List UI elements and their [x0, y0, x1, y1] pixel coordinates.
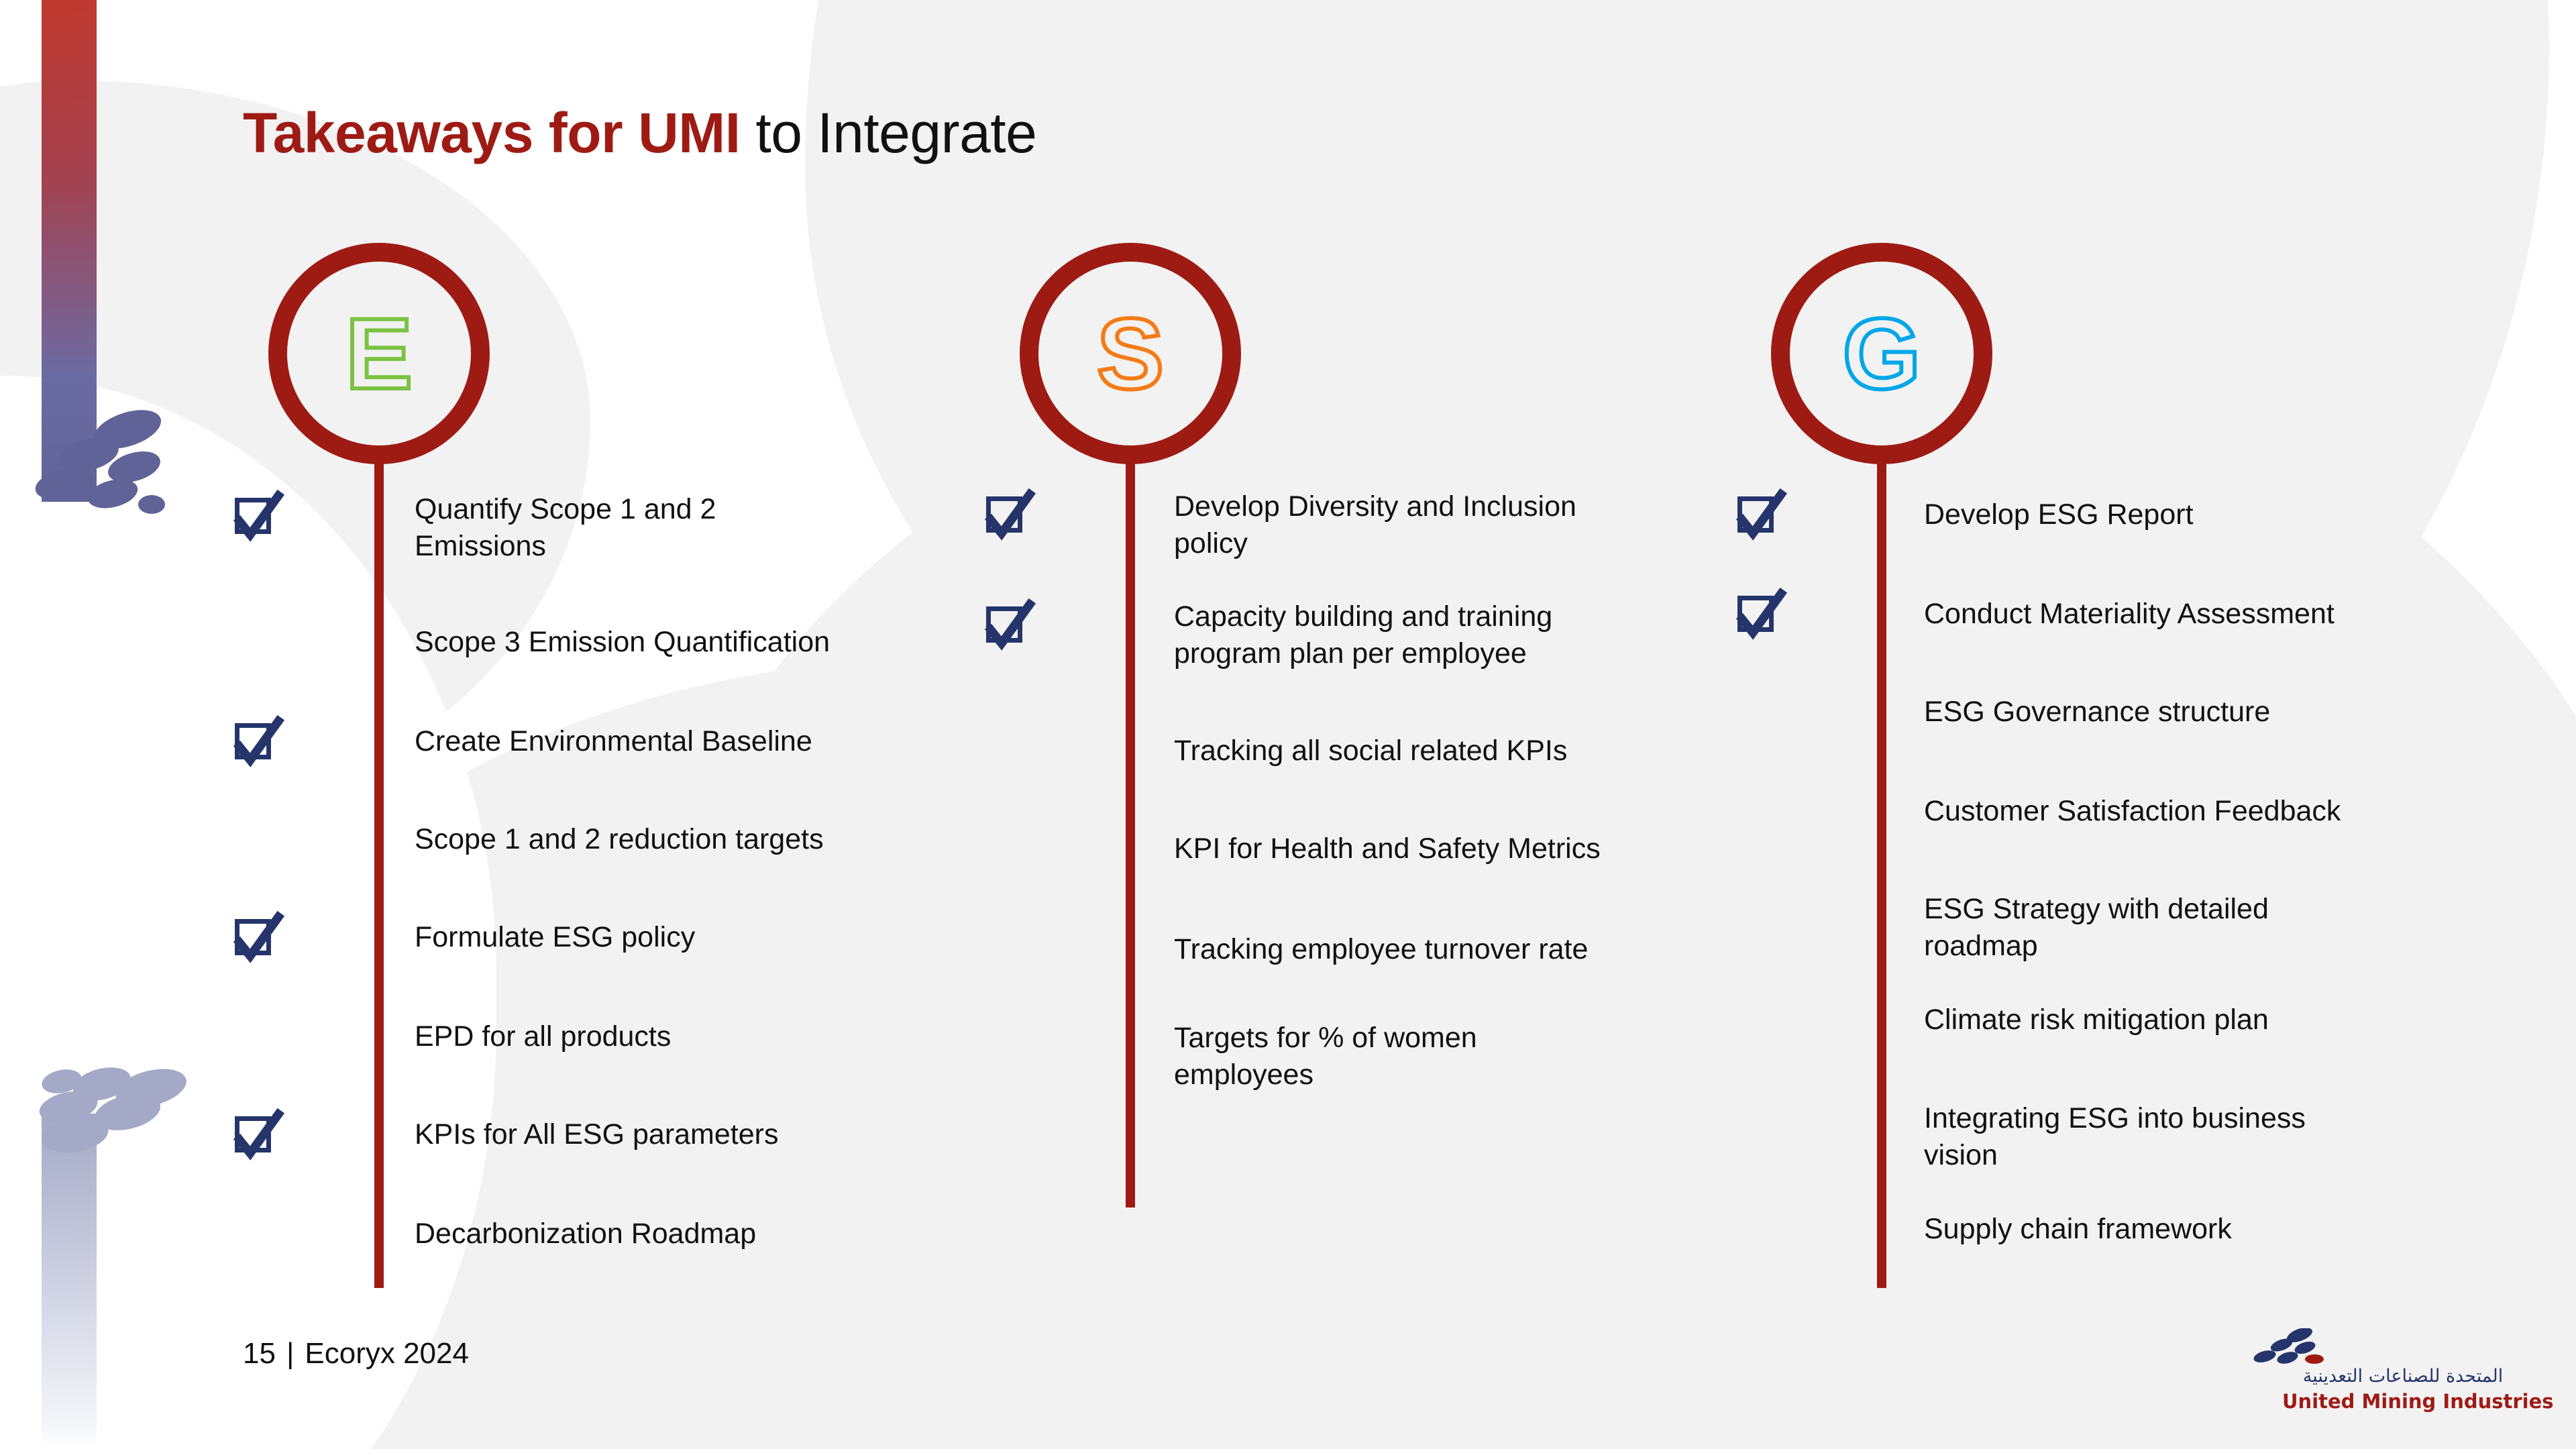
company-logo: المتحدة للصناعات التعدينية United Mining… — [2234, 1328, 2522, 1422]
list-item-label: Formulate ESG policy — [415, 919, 924, 956]
checkbox-checked[interactable] — [1737, 496, 1774, 533]
list-item-label: Integrating ESG into business vision — [1924, 1100, 2394, 1173]
slide-canvas: Takeaways for UMI to Integrate E Quantif… — [0, 0, 2576, 1449]
list-item-label: Develop Diversity and Inclusion policy — [1174, 488, 1684, 561]
list-item-label: ESG Strategy with detailed roadmap — [1924, 891, 2394, 964]
list-item-label: Decarbonization Roadmap — [415, 1216, 924, 1252]
list-item-label: Customer Satisfaction Feedback — [1924, 793, 2461, 830]
footer-source: Ecoryx 2024 — [305, 1337, 469, 1370]
list-item-label: Scope 3 Emission Quantification — [415, 624, 924, 661]
list-item-label: Scope 1 and 2 reduction targets — [415, 821, 924, 858]
list-item-label: Tracking all social related KPIs — [1174, 733, 1711, 769]
list-item-label: Tracking employee turnover rate — [1174, 931, 1711, 968]
checkbox-checked[interactable] — [235, 919, 271, 955]
background-swoosh-2 — [671, 288, 2576, 1449]
list-item-label: Capacity building and training program p… — [1174, 598, 1684, 672]
left-accent-pills-bottom — [27, 1046, 195, 1174]
checkbox-checked[interactable] — [235, 1116, 271, 1152]
checkbox-checked[interactable] — [235, 498, 271, 534]
checkbox-checked[interactable] — [1737, 596, 1774, 632]
list-item-label: EPD for all products — [415, 1018, 924, 1055]
list-item-label: Conduct Materiality Assessment — [1924, 596, 2461, 633]
logo-english-name: United Mining Industries — [2282, 1390, 2524, 1413]
pillar-badge-governance: G — [1771, 243, 1992, 464]
page-number: 15 — [243, 1337, 276, 1370]
pillar-badge-social: S — [1020, 243, 1241, 464]
list-item-label: Quantify Scope 1 and 2 Emissions — [415, 491, 844, 564]
page-title-rest: to Integrate — [741, 101, 1037, 164]
social-letter-icon: S — [1097, 303, 1164, 404]
list-item-label: KPI for Health and Safety Metrics — [1174, 830, 1711, 867]
logo-mark-icon — [2253, 1328, 2326, 1367]
pillar-stem-governance — [1877, 456, 1886, 1288]
list-item-label: ESG Governance structure — [1924, 694, 2461, 731]
logo-arabic-name: المتحدة للصناعات التعدينية — [2282, 1366, 2524, 1387]
page-title-highlight: Takeaways for UMI — [243, 101, 741, 164]
checkbox-checked[interactable] — [986, 496, 1022, 533]
checkbox-checked[interactable] — [235, 723, 271, 759]
list-item-label: Develop ESG Report — [1924, 496, 2461, 533]
list-item-label: Targets for % of women employees — [1174, 1020, 1684, 1093]
pillar-stem-environment — [374, 456, 384, 1288]
list-item-label: KPIs for All ESG parameters — [415, 1116, 924, 1153]
list-item-label: Supply chain framework — [1924, 1211, 2461, 1248]
pillar-badge-environment: E — [268, 243, 490, 464]
list-item-label: Climate risk mitigation plan — [1924, 1002, 2461, 1038]
slide-footer: 15|Ecoryx 2024 — [243, 1337, 469, 1371]
pillar-stem-social — [1126, 456, 1135, 1207]
checkbox-checked[interactable] — [986, 606, 1022, 643]
governance-letter-icon: G — [1843, 303, 1921, 404]
environment-letter-icon: E — [345, 303, 413, 404]
list-item-label: Create Environmental Baseline — [415, 723, 924, 760]
page-title: Takeaways for UMI to Integrate — [243, 101, 1036, 166]
left-accent-pills-top — [27, 402, 188, 523]
footer-separator: | — [276, 1337, 305, 1370]
